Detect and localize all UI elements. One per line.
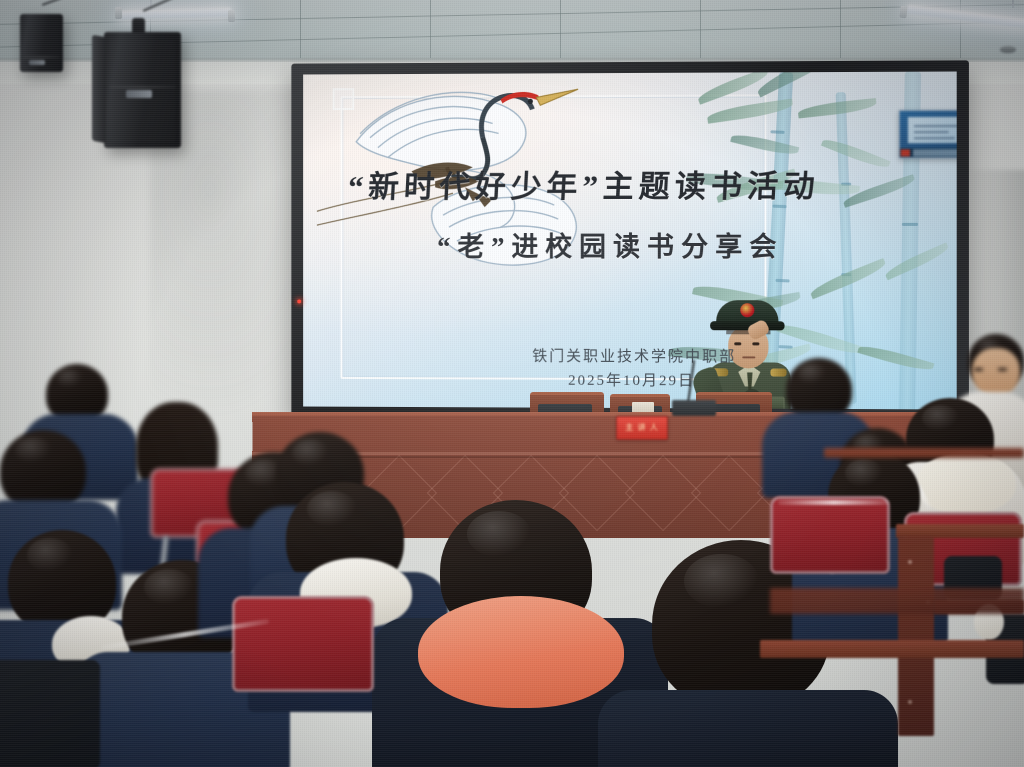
desk-screw xyxy=(908,700,912,704)
wooden-desk-top xyxy=(824,448,1024,458)
chair-frame-highlight xyxy=(778,500,890,505)
chair[interactable] xyxy=(770,496,890,574)
audience-hood xyxy=(916,452,1016,514)
desk-screw xyxy=(908,560,912,564)
audience-torso-foreground xyxy=(598,690,898,767)
wooden-desk-side xyxy=(898,536,934,736)
photograph-scene: “新时代好少年”主题读书活动 “老”进校园读书分享会 铁门关职业技术学院中职部 … xyxy=(0,0,1024,767)
wooden-desk-row xyxy=(770,588,1024,614)
orange-hood xyxy=(418,596,624,708)
chair[interactable] xyxy=(232,596,374,692)
backpack xyxy=(0,660,100,767)
audience xyxy=(0,0,1024,767)
wooden-desk-top xyxy=(760,640,1024,658)
